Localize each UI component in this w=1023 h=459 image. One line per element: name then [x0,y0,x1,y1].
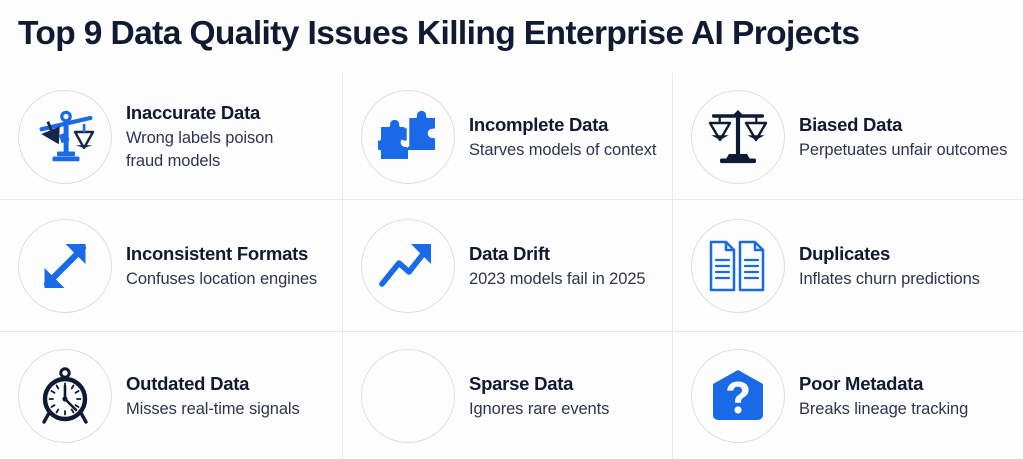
issues-grid: Inaccurate Data Wrong labels poison frau… [0,73,1023,459]
item-description: Perpetuates unfair outcomes [799,139,1007,162]
icon-badge [361,90,455,184]
grid-item-duplicates[interactable]: Duplicates Inflates churn predictions [673,200,1023,332]
question-mark-tag-icon [710,368,766,424]
grid-item-inaccurate-data[interactable]: Inaccurate Data Wrong labels poison frau… [0,73,343,200]
grid-item-sparse-data[interactable]: Sparse Data Ignores rare events [343,332,673,459]
item-description: Starves models of context [469,139,656,162]
balanced-scale-icon [707,108,769,166]
item-text: Sparse Data Ignores rare events [469,371,609,421]
item-description: Ignores rare events [469,398,609,421]
infographic-root: Top 9 Data Quality Issues Killing Enterp… [0,0,1023,459]
grid-item-data-drift[interactable]: Data Drift 2023 models fail in 2025 [343,200,673,332]
item-description: Inflates churn predictions [799,268,980,291]
item-text: Data Drift 2023 models fail in 2025 [469,241,645,291]
item-text: Outdated Data Misses real-time signals [126,371,300,421]
item-description: Misses real-time signals [126,398,300,421]
item-title: Biased Data [799,112,1007,137]
icon-badge [691,219,785,313]
duplicate-documents-icon [708,238,768,294]
grid-item-biased-data[interactable]: Biased Data Perpetuates unfair outcomes [673,73,1023,200]
diagonal-double-arrow-icon [37,238,93,294]
grid-item-inconsistent-formats[interactable]: Inconsistent Formats Confuses location e… [0,200,343,332]
icon-badge [361,349,455,443]
item-title: Poor Metadata [799,371,968,396]
grid-item-incomplete-data[interactable]: Incomplete Data Starves models of contex… [343,73,673,200]
icon-badge [18,90,112,184]
icon-badge [691,90,785,184]
item-title: Outdated Data [126,371,300,396]
alarm-clock-icon [36,366,94,426]
page-title: Top 9 Data Quality Issues Killing Enterp… [18,13,1003,55]
item-title: Sparse Data [469,371,609,396]
item-text: Inconsistent Formats Confuses location e… [126,241,317,291]
item-text: Biased Data Perpetuates unfair outcomes [799,112,1007,162]
item-text: Poor Metadata Breaks lineage tracking [799,371,968,421]
item-title: Data Drift [469,241,645,266]
unbalanced-scale-icon [35,107,95,167]
item-title: Inaccurate Data [126,100,306,125]
item-title: Incomplete Data [469,112,656,137]
item-description: 2023 models fail in 2025 [469,268,645,291]
item-description: Breaks lineage tracking [799,398,968,421]
item-text: Duplicates Inflates churn predictions [799,241,980,291]
item-title: Duplicates [799,241,980,266]
icon-badge [361,219,455,313]
item-text: Incomplete Data Starves models of contex… [469,112,656,162]
item-title: Inconsistent Formats [126,241,317,266]
item-description: Confuses location engines [126,268,317,291]
item-text: Inaccurate Data Wrong labels poison frau… [126,100,306,173]
icon-badge [691,349,785,443]
grid-item-outdated-data[interactable]: Outdated Data Misses real-time signals [0,332,343,459]
item-description: Wrong labels poison fraud models [126,127,306,173]
puzzle-pieces-icon [378,107,438,167]
icon-badge [18,349,112,443]
trending-up-arrow-icon [379,240,437,292]
icon-badge [18,219,112,313]
grid-item-poor-metadata[interactable]: Poor Metadata Breaks lineage tracking [673,332,1023,459]
